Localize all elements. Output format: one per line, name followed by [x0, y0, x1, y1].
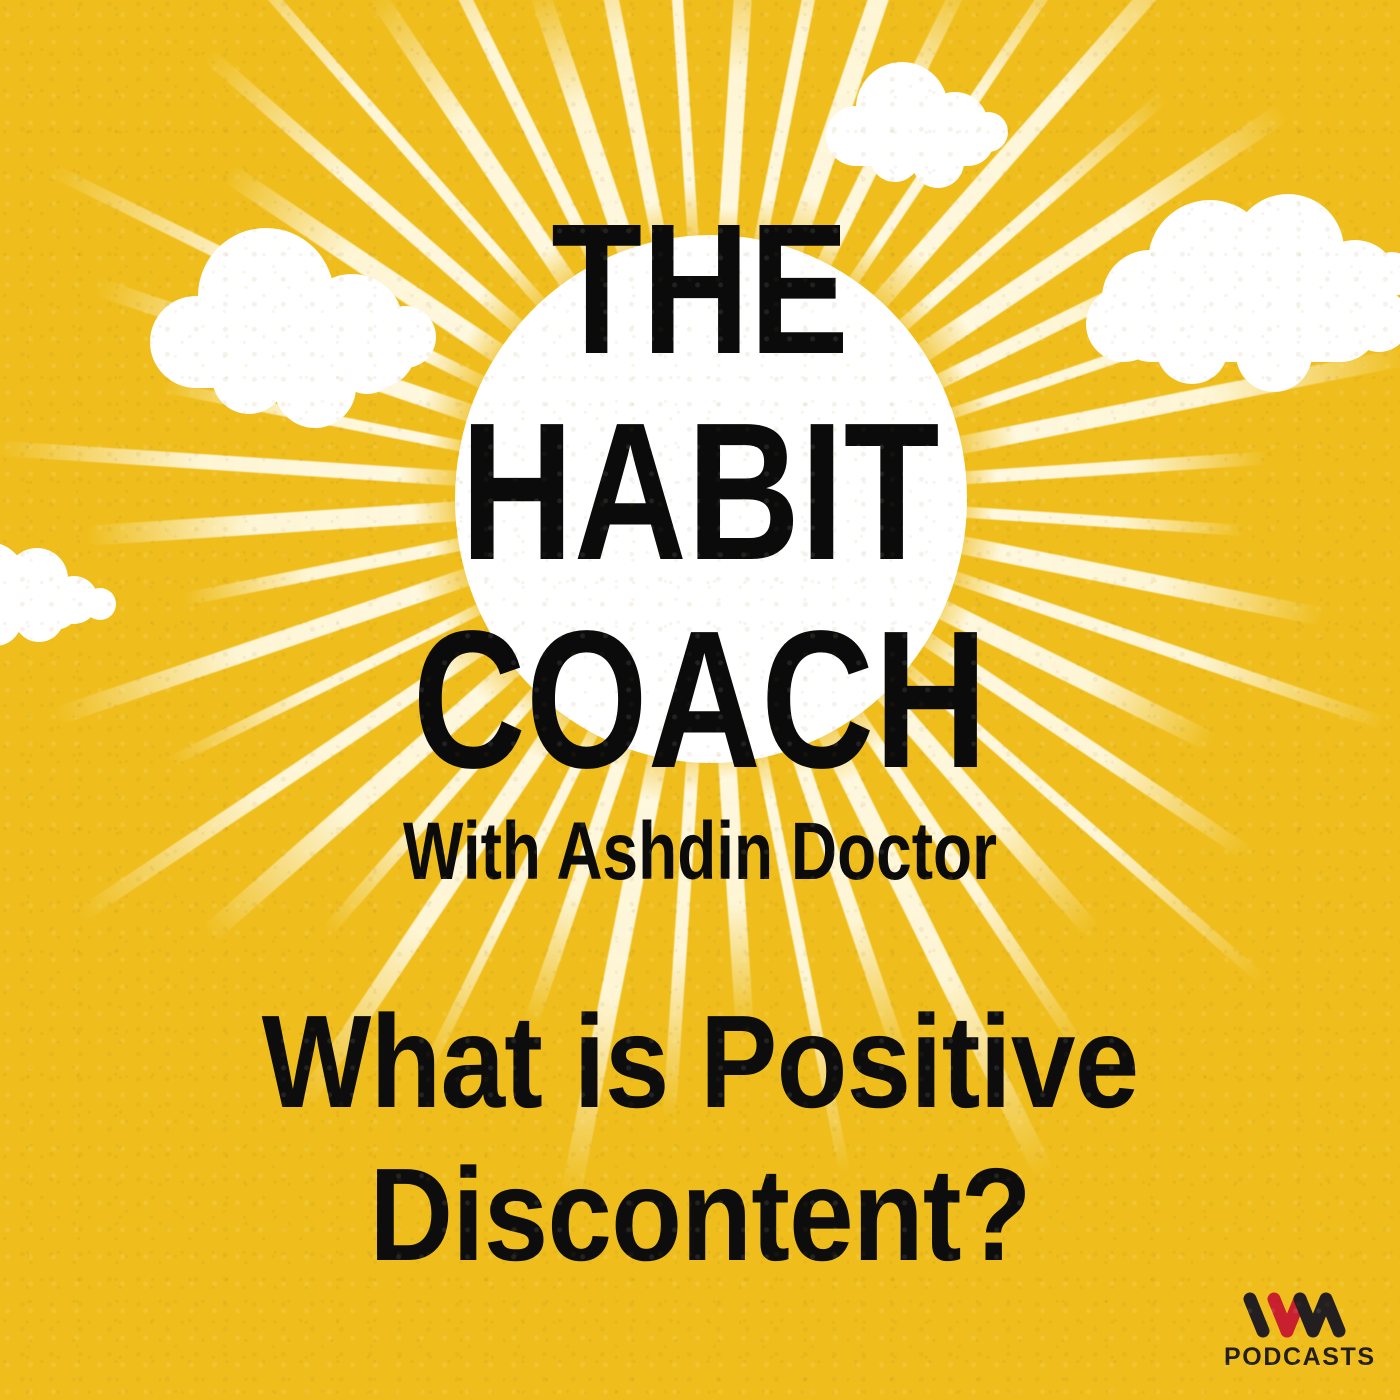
podcast-cover-art: THE HABIT COACH With Ashdin Doctor What …	[0, 0, 1400, 1400]
cloud-left-edge	[0, 540, 132, 650]
episode-title: What is Positive Discontent?	[190, 985, 1211, 1291]
ivm-logo-mark	[1238, 1292, 1350, 1338]
cloud-top-right	[826, 60, 1012, 178]
show-title-line-habit: HABIT	[140, 412, 1260, 573]
ivm-podcasts-wordmark: PODCASTS	[1224, 1345, 1364, 1370]
host-credit: With Ashdin Doctor	[154, 818, 1246, 885]
ivm-podcasts-logo[interactable]: PODCASTS	[1224, 1292, 1364, 1370]
show-title-line-coach: COACH	[140, 620, 1260, 781]
show-title-line-the: THE	[140, 214, 1260, 367]
